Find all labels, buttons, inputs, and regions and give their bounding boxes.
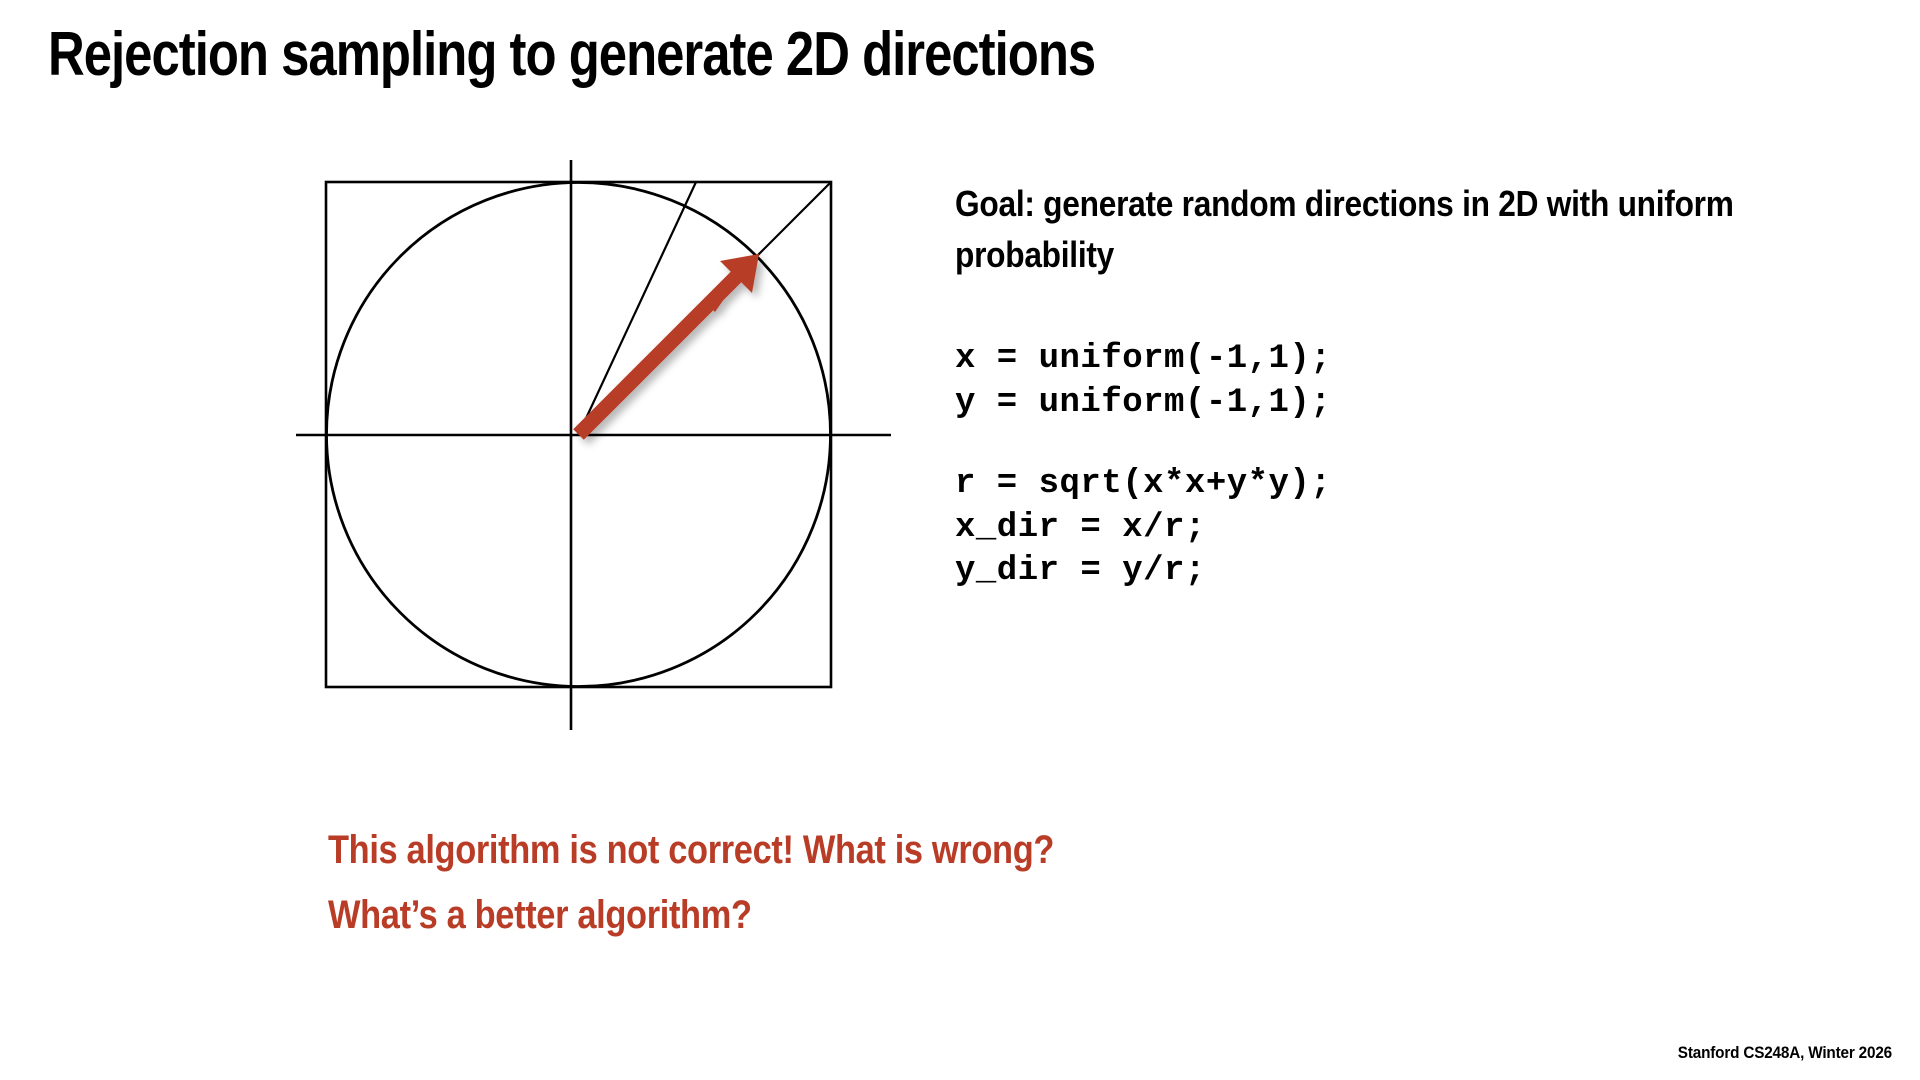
question-note: This algorithm is not correct! What is w… (328, 818, 1054, 948)
code-block-normalize: r = sqrt(x*x+y*y); x_dir = x/r; y_dir = … (955, 463, 1855, 594)
goal-statement: Goal: generate random directions in 2D w… (955, 178, 1853, 280)
sampling-diagram (296, 160, 916, 740)
ray-steep (579, 182, 697, 435)
sample-direction-arrow (579, 254, 760, 435)
question-note-line-1: This algorithm is not correct! What is w… (328, 818, 1054, 883)
slide-footer: Stanford CS248A, Winter 2026 (1678, 1043, 1892, 1063)
explanation-column: Goal: generate random directions in 2D w… (955, 178, 1855, 594)
code-block-sample: x = uniform(-1,1); y = uniform(-1,1); (955, 338, 1855, 425)
sampling-diagram-svg (296, 160, 916, 740)
question-note-line-2: What’s a better algorithm? (328, 883, 1054, 948)
page-title: Rejection sampling to generate 2D direct… (48, 22, 1360, 89)
slide-root: Rejection sampling to generate 2D direct… (0, 0, 1920, 1080)
